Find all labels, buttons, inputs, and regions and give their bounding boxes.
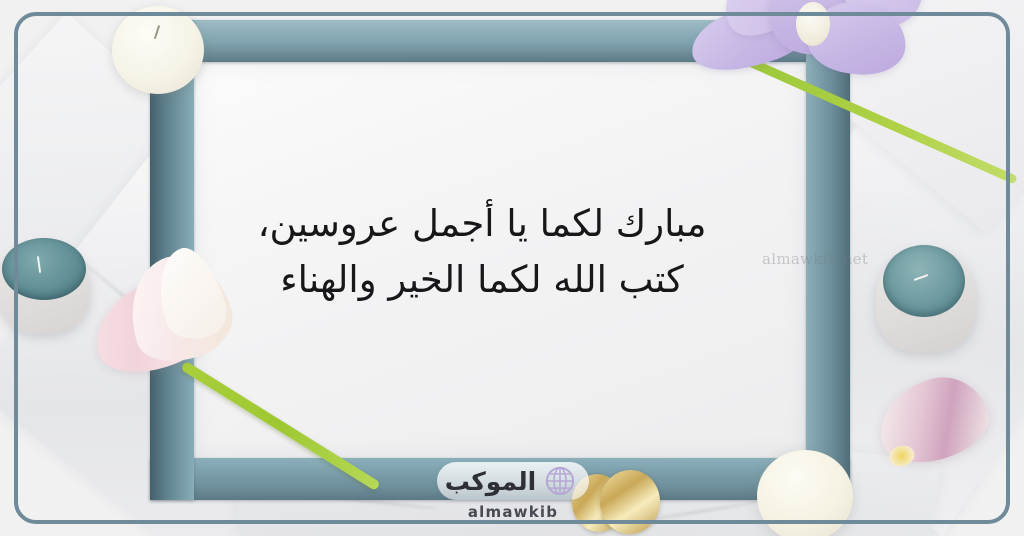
greeting-line-1: مبارك لكما يا أجمل عروسين، xyxy=(196,196,768,252)
flower-center xyxy=(796,2,830,46)
logo-arabic-name: الموكب xyxy=(445,469,536,494)
greeting-text: مبارك لكما يا أجمل عروسين، كتب الله لكما… xyxy=(196,196,768,308)
candle-wax xyxy=(2,238,86,300)
watermark: almawkib.net xyxy=(762,250,868,268)
cream-candle-bottom-right xyxy=(757,450,853,536)
logo-pill: الموكب xyxy=(437,462,589,500)
logo-latin-name: almawkib xyxy=(418,503,608,521)
globe-icon xyxy=(545,466,575,496)
greeting-line-2: كتب الله لكما الخير والهناء xyxy=(196,252,768,308)
teal-candle-right xyxy=(874,240,978,356)
brand-logo[interactable]: الموكب almawkib xyxy=(418,462,608,521)
candle-wax xyxy=(883,245,965,317)
cream-candle-top-left xyxy=(112,6,204,94)
candle-wick xyxy=(154,25,160,39)
greeting-card: مبارك لكما يا أجمل عروسين، كتب الله لكما… xyxy=(0,0,1024,536)
